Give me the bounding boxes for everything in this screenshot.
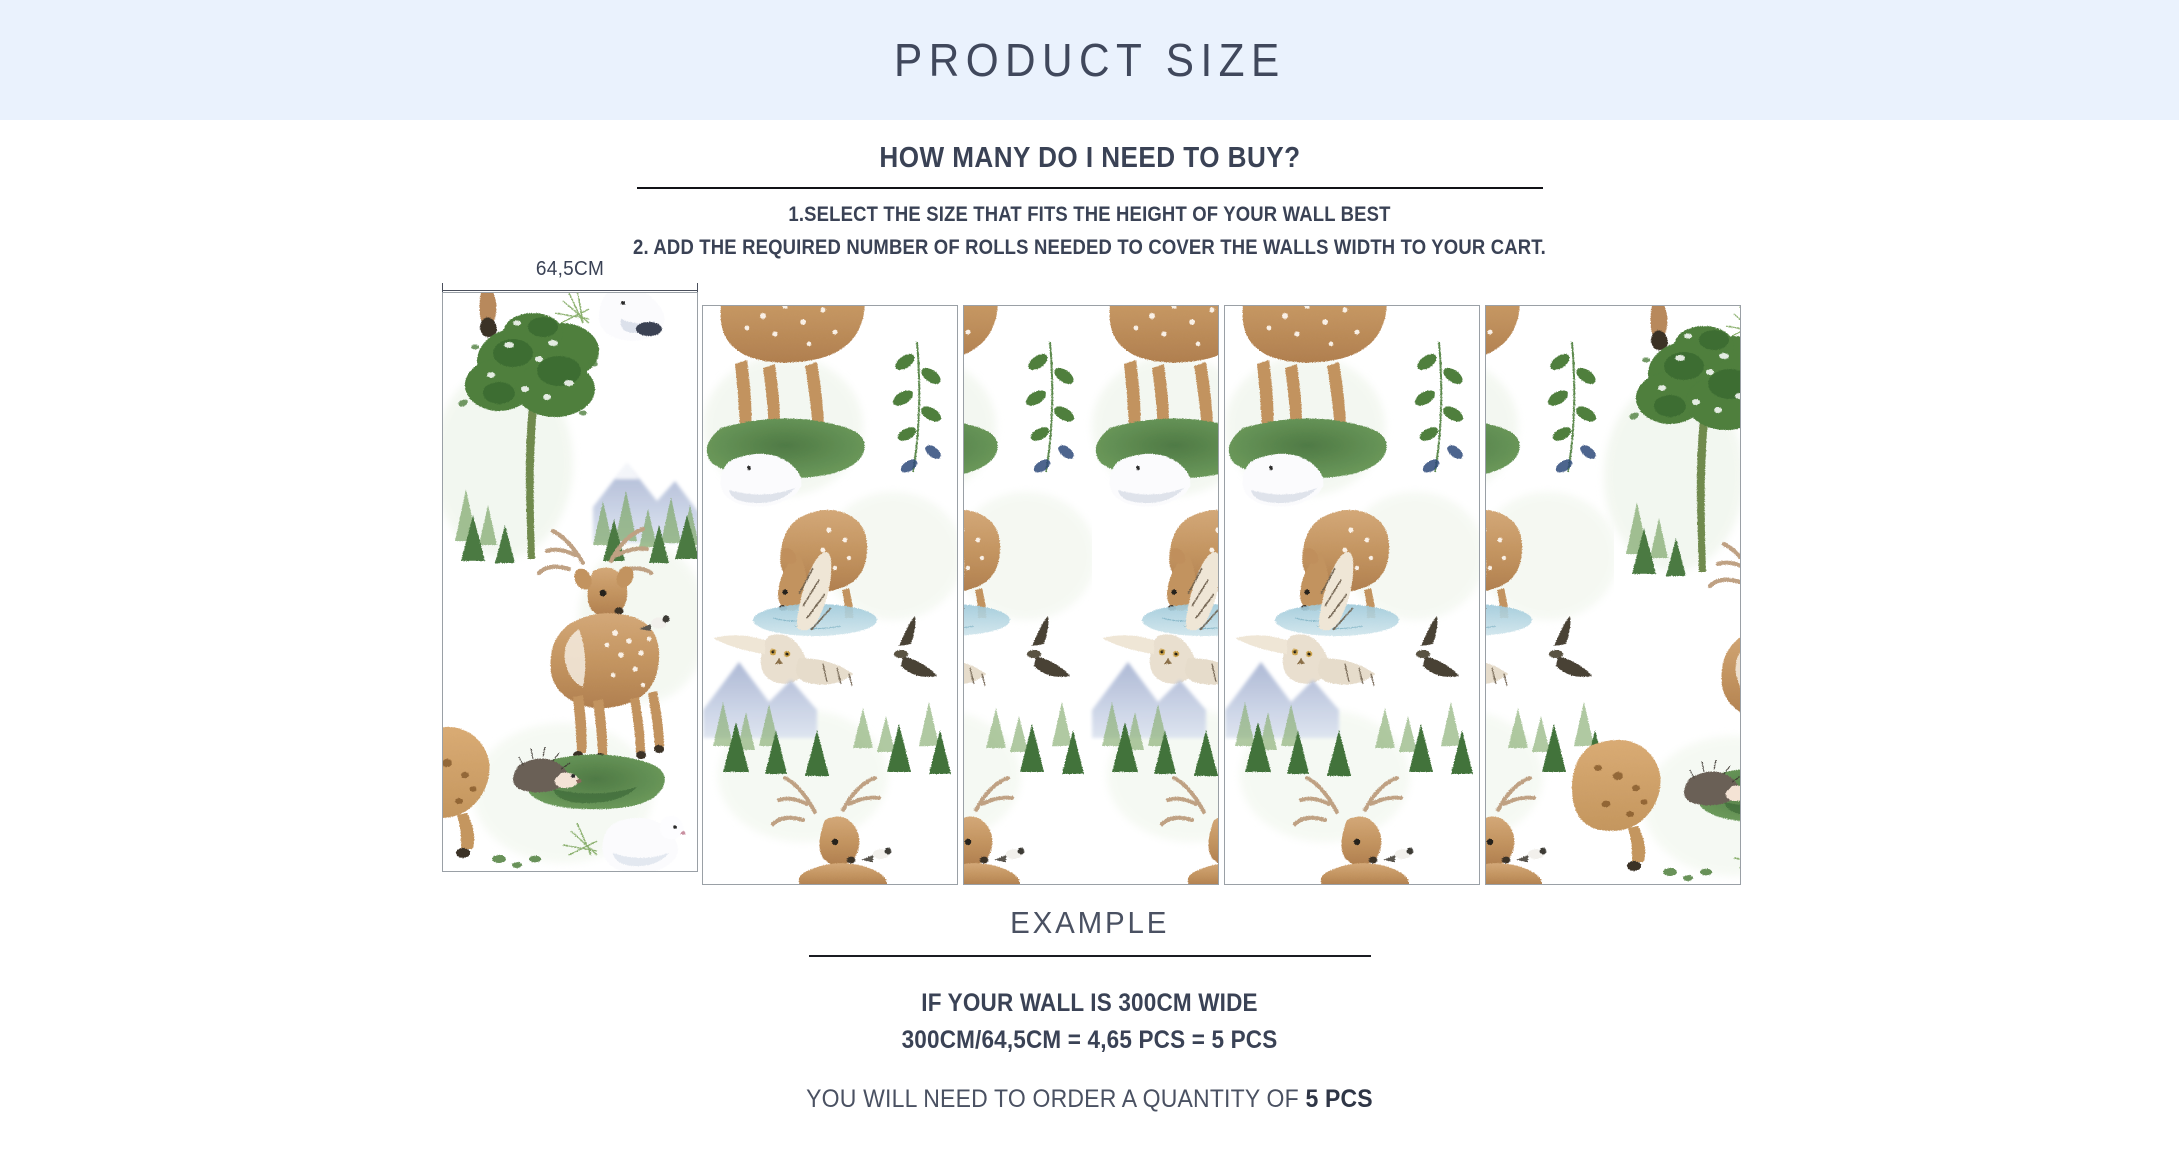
instruction-step-1: 1.SELECT THE SIZE THAT FITS THE HEIGHT O… (131, 203, 2049, 227)
dimension-label: 64,5CM (448, 258, 691, 281)
wallpaper-pattern-art (703, 306, 958, 885)
wallpaper-pattern-art (964, 306, 1219, 885)
example-divider (809, 955, 1371, 957)
wallpaper-panel[interactable] (1485, 305, 1741, 885)
wallpaper-pattern-art (1486, 306, 1741, 885)
header-band: PRODUCT SIZE (0, 0, 2179, 120)
instruction-step-2: 2. ADD THE REQUIRED NUMBER OF ROLLS NEED… (131, 236, 2049, 260)
how-many-title: HOW MANY DO I NEED TO BUY? (879, 142, 1300, 175)
example-title-wrap: EXAMPLE (0, 905, 2179, 941)
instructions-section: HOW MANY DO I NEED TO BUY? 1.SELECT THE … (0, 120, 2179, 260)
how-many-title-wrap: HOW MANY DO I NEED TO BUY? (0, 142, 2179, 175)
wallpaper-panel[interactable] (963, 305, 1219, 885)
example-wall-width: IF YOUR WALL IS 300CM WIDE (109, 989, 2070, 1018)
roll-width-dimension: 64,5CM (442, 262, 698, 294)
instructions-divider (637, 187, 1543, 189)
example-order-statement: YOU WILL NEED TO ORDER A QUANTITY OF 5 P… (87, 1085, 2092, 1114)
page-title: PRODUCT SIZE (894, 33, 1286, 87)
wallpaper-pattern-art (443, 293, 698, 872)
wallpaper-panel[interactable] (1224, 305, 1480, 885)
example-order-prefix: YOU WILL NEED TO ORDER A QUANTITY OF (806, 1085, 1305, 1113)
dimension-line (442, 290, 698, 291)
example-calculation: 300CM/64,5CM = 4,65 PCS = 5 PCS (109, 1026, 2070, 1055)
wallpaper-panel[interactable] (442, 292, 698, 872)
example-order-quantity: 5 PCS (1305, 1085, 1372, 1113)
wallpaper-pattern-art (1225, 306, 1480, 885)
example-title: EXAMPLE (1010, 905, 1169, 941)
example-section: EXAMPLE IF YOUR WALL IS 300CM WIDE 300CM… (0, 905, 2179, 1114)
wallpaper-panel[interactable] (702, 305, 958, 885)
